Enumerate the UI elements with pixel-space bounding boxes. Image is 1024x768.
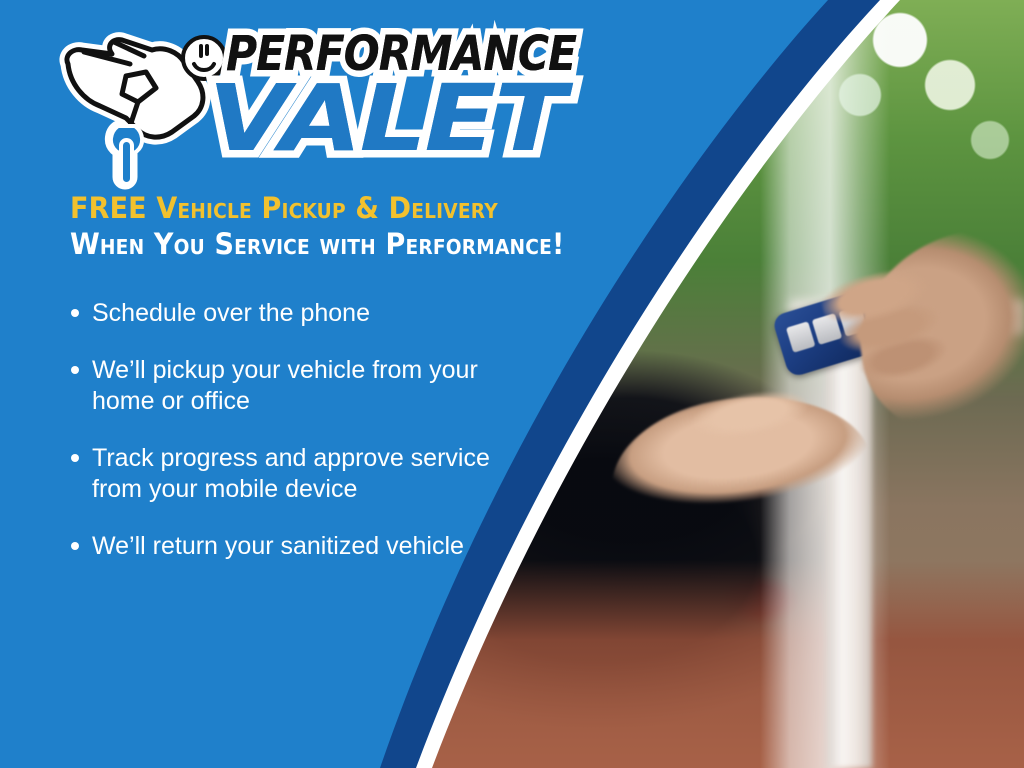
benefits-list: Schedule over the phone We’ll pickup you… — [64, 298, 534, 562]
content-column: PERFORMANCE PERFORMANCE VALET VALET FREE… — [0, 0, 700, 768]
list-item: We’ll pickup your vehicle from your home… — [64, 355, 534, 417]
list-item: Schedule over the phone — [64, 298, 534, 329]
bullet-dot-icon — [71, 454, 79, 462]
headline-line-2: When You Service with Performance! — [70, 227, 647, 262]
list-item: Track progress and approve service from … — [64, 443, 534, 505]
list-item-label: Track progress and approve service from … — [92, 444, 490, 503]
bullet-dot-icon — [71, 309, 79, 317]
bullet-dot-icon — [71, 366, 79, 374]
list-item-label: We’ll return your sanitized vehicle — [92, 532, 464, 560]
list-item: We’ll return your sanitized vehicle — [64, 531, 534, 562]
bullet-dot-icon — [71, 542, 79, 550]
headline-block: FREE Vehicle Pickup & Delivery When You … — [70, 192, 690, 262]
headline-line-1: FREE Vehicle Pickup & Delivery — [70, 192, 647, 224]
list-item-label: We’ll pickup your vehicle from your home… — [92, 356, 478, 415]
svg-text:VALET: VALET — [208, 65, 573, 172]
promo-graphic: PERFORMANCE PERFORMANCE VALET VALET FREE… — [0, 0, 1024, 768]
list-item-label: Schedule over the phone — [92, 299, 370, 327]
performance-valet-logo: PERFORMANCE PERFORMANCE VALET VALET — [58, 14, 578, 182]
